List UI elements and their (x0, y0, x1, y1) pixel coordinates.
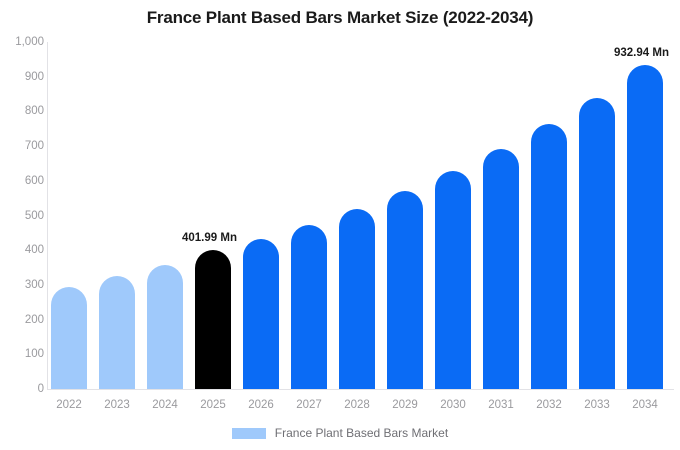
x-axis-tick-2022: 2022 (45, 399, 93, 411)
y-axis-tick-700: 700 (0, 140, 44, 152)
x-axis-line (47, 389, 674, 390)
bar-2030[interactable] (435, 171, 471, 389)
x-axis-tick-2027: 2027 (285, 399, 333, 411)
x-axis-tick-2023: 2023 (93, 399, 141, 411)
x-axis-tick-2025: 2025 (189, 399, 237, 411)
x-axis-tick-2034: 2034 (621, 399, 669, 411)
value-label-2025: 401.99 Mn (182, 232, 237, 244)
bar-2026[interactable] (243, 239, 279, 389)
chart-legend: France Plant Based Bars Market (0, 426, 680, 440)
bar-2033[interactable] (579, 98, 615, 389)
bar-2031[interactable] (483, 149, 519, 389)
y-axis-tick-0: 0 (0, 383, 44, 395)
value-label-2034: 932.94 Mn (614, 47, 669, 59)
y-axis-tick-500: 500 (0, 210, 44, 222)
y-axis-tick-300: 300 (0, 279, 44, 291)
chart-title: France Plant Based Bars Market Size (202… (0, 8, 680, 28)
bar-2027[interactable] (291, 225, 327, 389)
y-axis-tick-600: 600 (0, 175, 44, 187)
legend-swatch-france-plant-based-bars-market (232, 428, 266, 439)
x-axis-tick-2026: 2026 (237, 399, 285, 411)
y-axis-tick-1000: 1,000 (0, 36, 44, 48)
bar-2023[interactable] (99, 276, 135, 389)
x-axis-tick-2028: 2028 (333, 399, 381, 411)
y-axis-tick-labels: 01002003004005006007008009001,000 (0, 0, 44, 450)
bar-2024[interactable] (147, 265, 183, 389)
bar-2025[interactable] (195, 250, 231, 389)
x-axis-tick-2029: 2029 (381, 399, 429, 411)
y-axis-tick-800: 800 (0, 105, 44, 117)
y-axis-tick-400: 400 (0, 244, 44, 256)
y-axis-tick-200: 200 (0, 314, 44, 326)
bar-2034[interactable] (627, 65, 663, 389)
x-axis-tick-2024: 2024 (141, 399, 189, 411)
bar-2029[interactable] (387, 191, 423, 389)
bar-2022[interactable] (51, 287, 87, 389)
bar-2032[interactable] (531, 124, 567, 389)
y-axis-tick-100: 100 (0, 348, 44, 360)
x-axis-tick-2031: 2031 (477, 399, 525, 411)
bar-chart: France Plant Based Bars Market Size (202… (0, 0, 680, 450)
bar-2028[interactable] (339, 209, 375, 389)
y-axis-tick-900: 900 (0, 71, 44, 83)
x-axis-tick-2032: 2032 (525, 399, 573, 411)
plot-area (47, 42, 674, 389)
x-axis-tick-2030: 2030 (429, 399, 477, 411)
legend-label-france-plant-based-bars-market: France Plant Based Bars Market (275, 426, 448, 440)
x-axis-tick-2033: 2033 (573, 399, 621, 411)
